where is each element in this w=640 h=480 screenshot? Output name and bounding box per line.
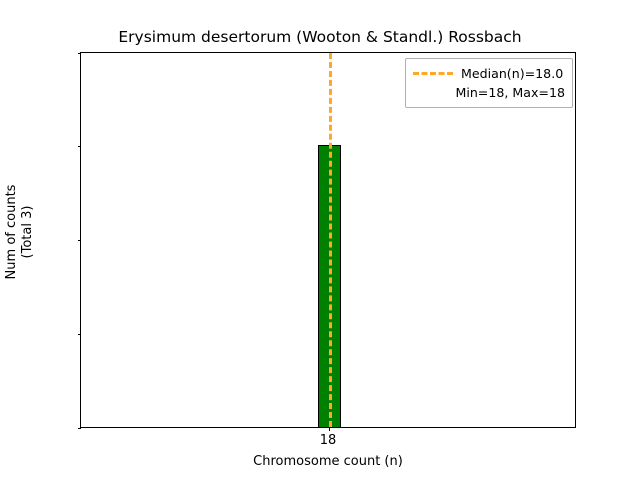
dashed-line-icon <box>413 72 453 75</box>
y-tick-mark-0 <box>78 428 82 429</box>
legend-row-minmax: Min=18, Max=18 <box>413 83 565 102</box>
chart-title: Erysimum desertorum (Wooton & Standl.) R… <box>0 28 640 46</box>
x-tick-mark-18 <box>329 427 330 431</box>
x-tick-label-18: 18 <box>320 434 337 447</box>
x-axis-label: Chromosome count (n) <box>80 455 576 469</box>
plot-area: Median(n)=18.0 Min=18, Max=18 <box>80 52 576 428</box>
y-axis-label: Num of counts (Total 3) <box>4 12 36 452</box>
chart-figure: Erysimum desertorum (Wooton & Standl.) R… <box>0 0 640 480</box>
legend-row-median: Median(n)=18.0 <box>413 64 565 83</box>
median-line <box>329 53 332 427</box>
y-axis-label-wrap: Num of counts (Total 3) <box>0 0 30 480</box>
legend-label-median: Median(n)=18.0 <box>461 67 563 81</box>
legend[interactable]: Median(n)=18.0 Min=18, Max=18 <box>405 58 573 108</box>
legend-label-minmax: Min=18, Max=18 <box>455 86 565 100</box>
plot-inner <box>81 53 575 427</box>
